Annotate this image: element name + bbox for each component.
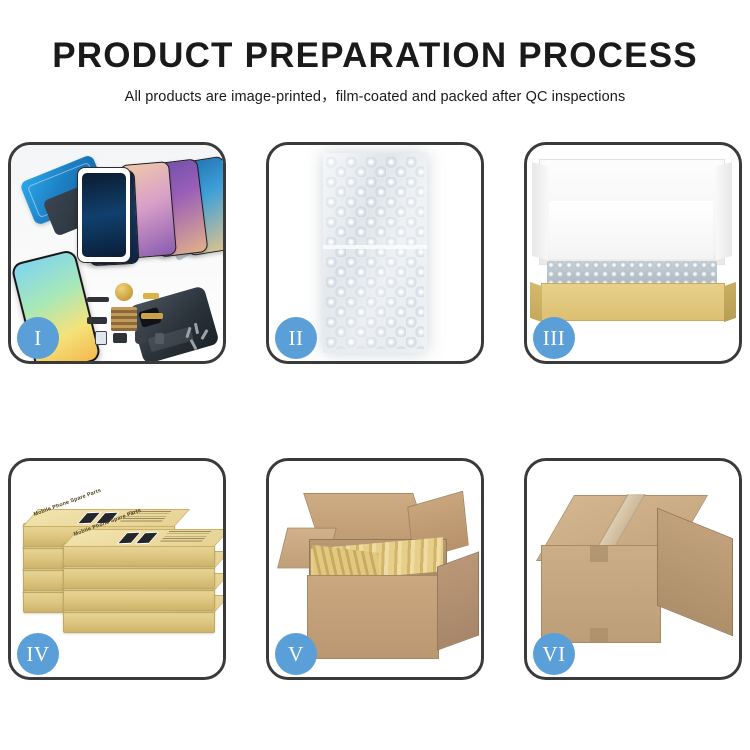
step-panel-2: II [266, 142, 484, 364]
step-badge-1: I [17, 317, 59, 359]
carton-front-face [307, 575, 439, 659]
step-badge-5: V [275, 633, 317, 675]
step-panel-1: I [8, 142, 226, 364]
step-badge-4: IV [17, 633, 59, 675]
screws-icon [185, 323, 215, 357]
carton-side-face [657, 508, 733, 637]
kraft-tray-box [541, 283, 725, 321]
spare-parts-group [85, 283, 181, 355]
plastic-sheen [323, 153, 427, 353]
step-panel-5: V [266, 458, 484, 680]
step-panel-4: Mobile Phone Spare Parts Mobile Phone Sp… [8, 458, 226, 680]
bubble-wrap-pouch [323, 153, 427, 353]
carton-side-face [437, 551, 479, 650]
product-preparation-infographic: PRODUCT PREPARATION PROCESS All products… [0, 0, 750, 750]
sealed-carton [537, 495, 735, 655]
step-panel-6: VI [524, 458, 742, 680]
header: PRODUCT PREPARATION PROCESS All products… [0, 0, 750, 106]
process-steps-grid: I II III [0, 142, 750, 682]
open-carton [283, 489, 473, 665]
retail-box [63, 609, 215, 633]
carton-flap-seam [590, 546, 608, 562]
retail-box [63, 565, 215, 589]
foam-insert [549, 201, 713, 259]
carton-flap-seam [590, 628, 608, 642]
step-badge-2: II [275, 317, 317, 359]
step-badge-3: III [533, 317, 575, 359]
retail-box [63, 587, 215, 611]
step-badge-6: VI [533, 633, 575, 675]
carton-front-face [541, 545, 661, 643]
page-title: PRODUCT PREPARATION PROCESS [0, 0, 750, 75]
retail-box: Mobile Phone Spare Parts [63, 543, 215, 567]
step-panel-3: III [524, 142, 742, 364]
page-subtitle: All products are image-printed，film-coat… [0, 75, 750, 106]
tempered-glass-icon [77, 167, 131, 263]
